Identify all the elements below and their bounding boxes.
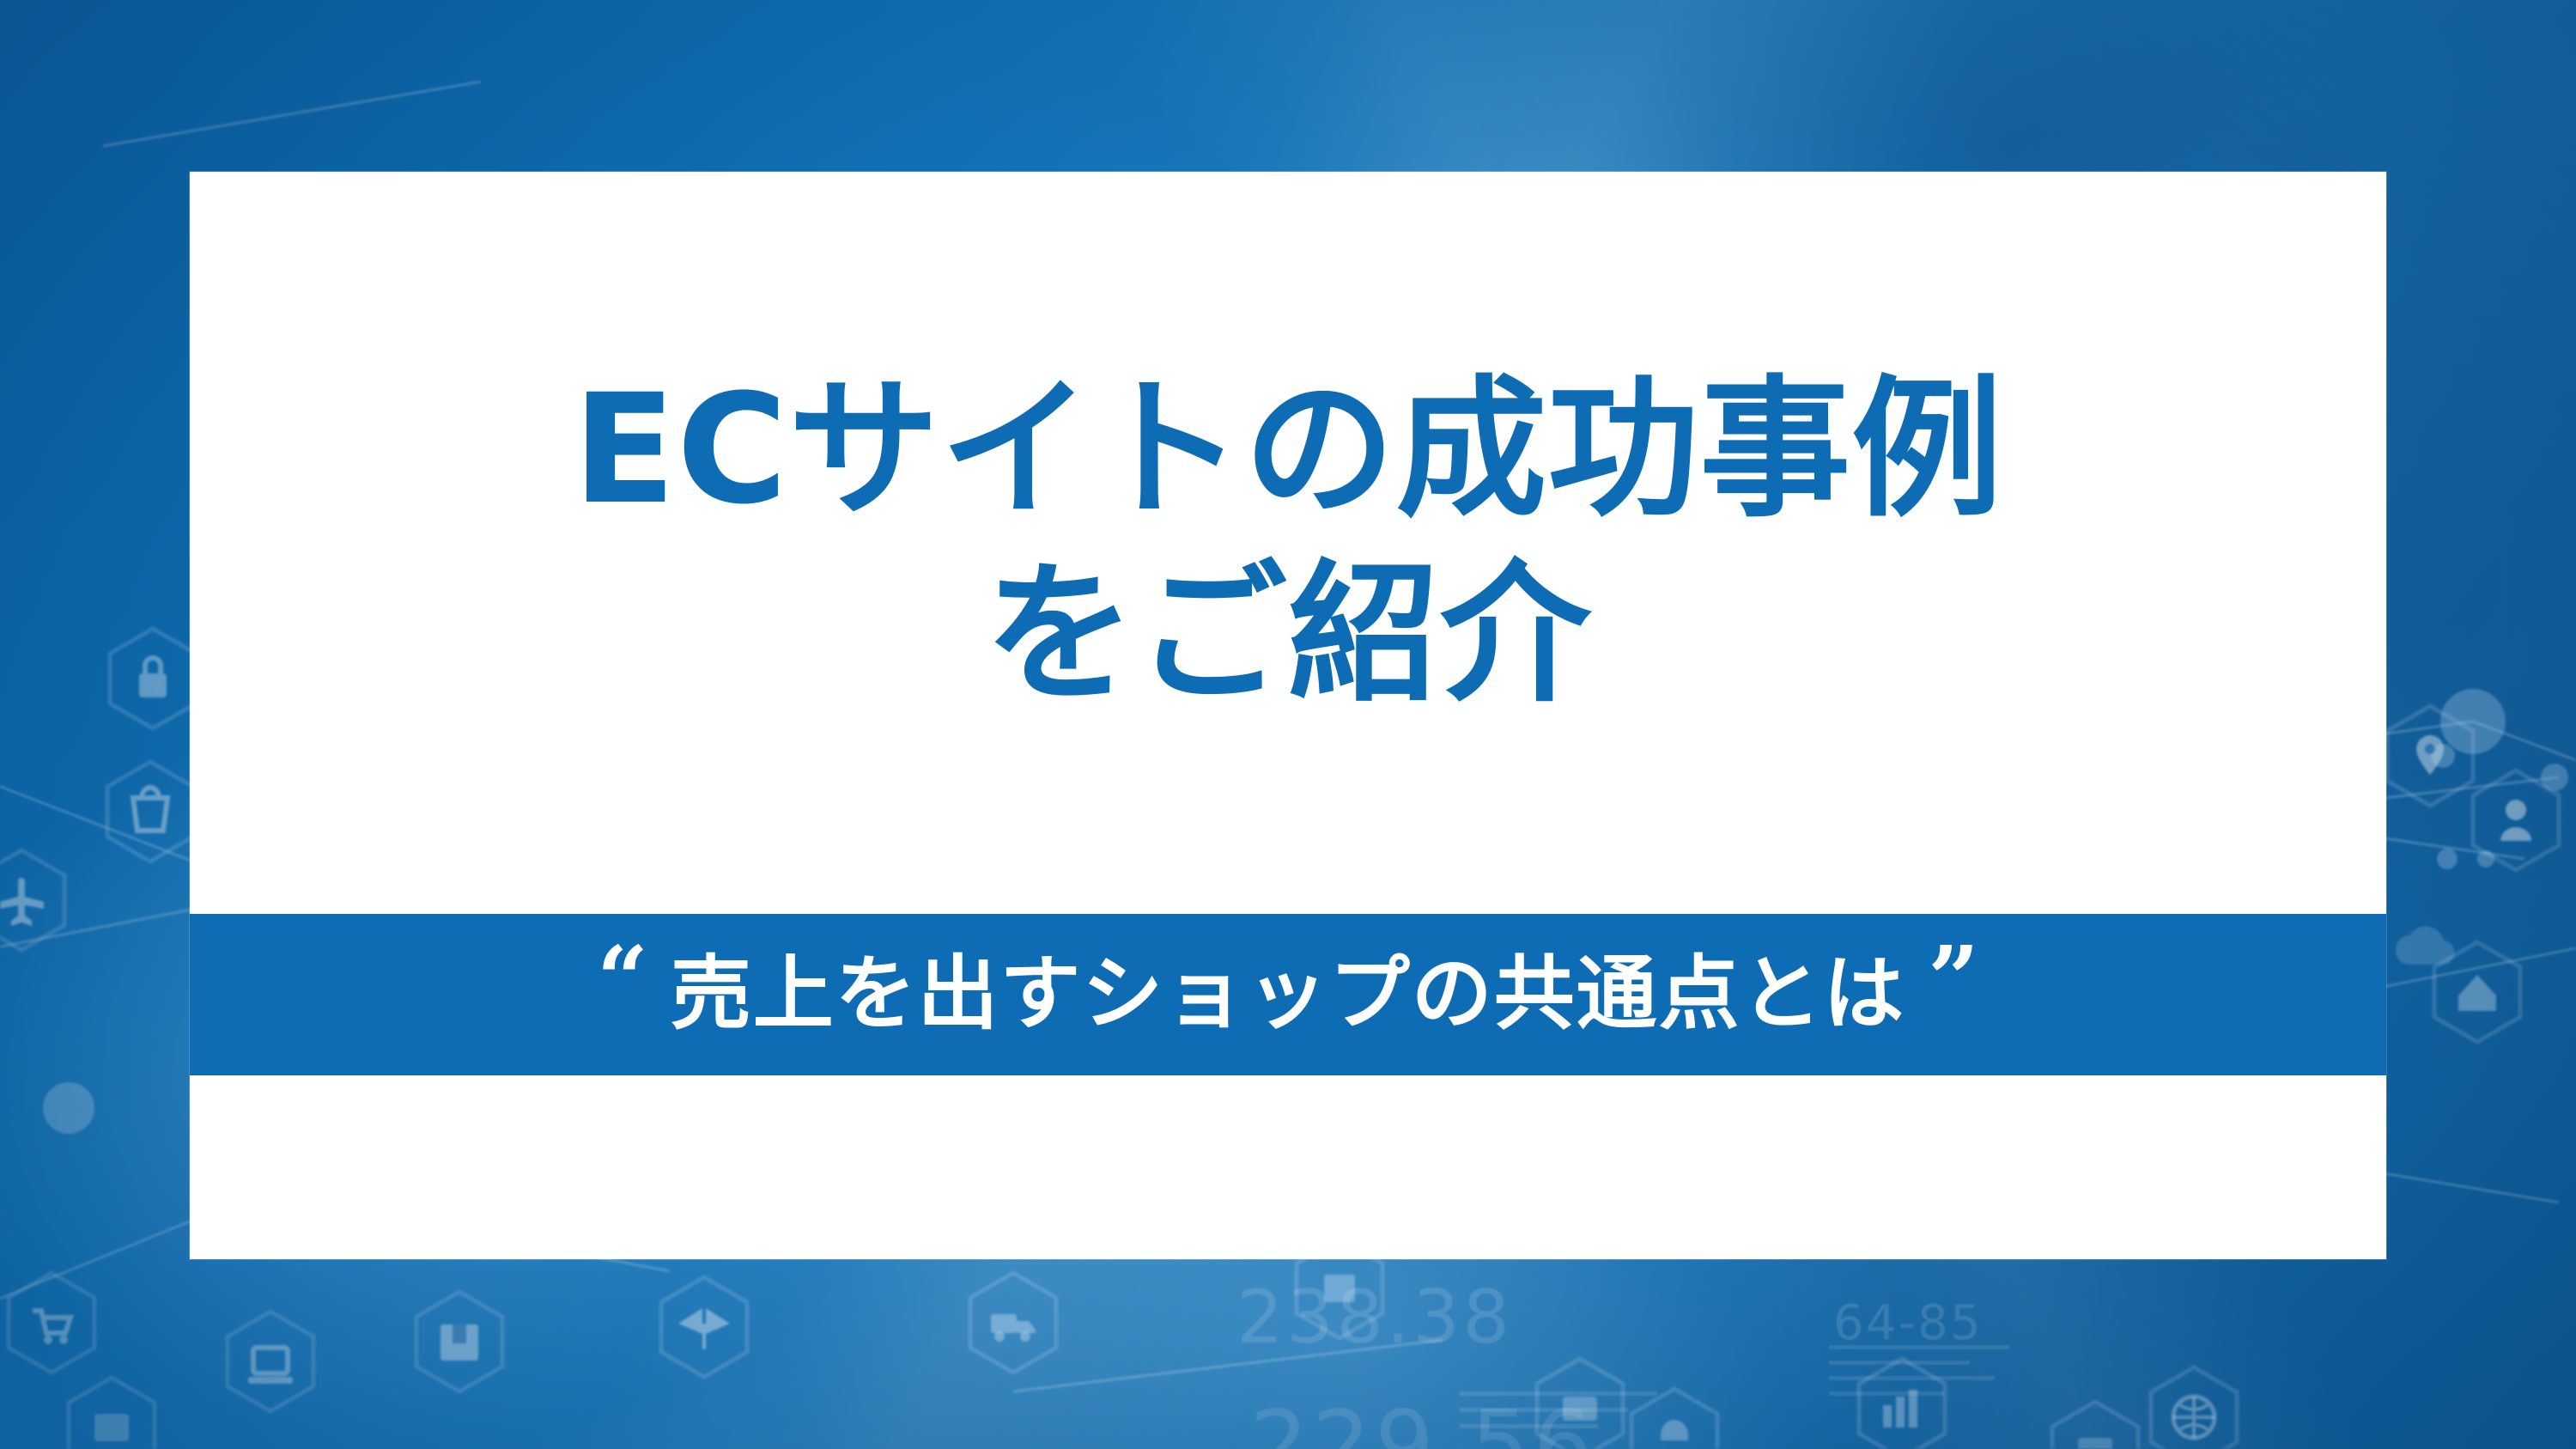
page-title-line-1: ECサイトの成功事例 bbox=[573, 358, 2003, 543]
content-card: ECサイトの成功事例 をご紹介 “ 売上を出すショップの共通点とは ” bbox=[190, 172, 2386, 1259]
subtitle-banner: “ 売上を出すショップの共通点とは ” bbox=[190, 914, 2386, 1075]
slide-canvas: 238.38 229.56 64-85 ECサイトの成功事例 をご紹介 “ 売上… bbox=[0, 0, 2576, 1449]
page-title-line-2: をご紹介 bbox=[984, 543, 1592, 728]
title-block: ECサイトの成功事例 をご紹介 bbox=[190, 172, 2386, 914]
quote-open-icon: “ bbox=[597, 935, 648, 1024]
quote-close-icon: ” bbox=[1928, 935, 1979, 1024]
subtitle-text: 売上を出すショップの共通点とは bbox=[671, 954, 1905, 1035]
card-footer-space bbox=[190, 1075, 2386, 1259]
